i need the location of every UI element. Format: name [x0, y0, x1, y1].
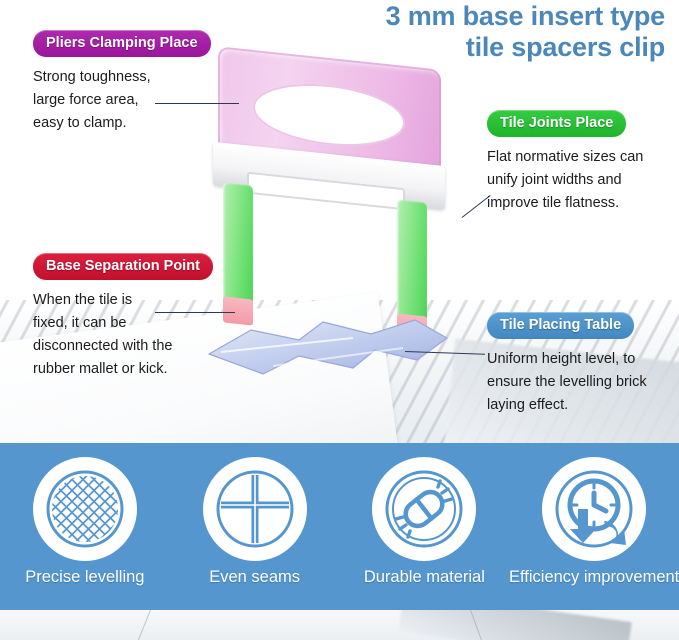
callout-badge-base: Base Separation Point [33, 253, 213, 280]
floor-grey-tile [398, 610, 632, 640]
callout-pliers-clamping-place: Pliers Clamping Place Strong toughness, … [33, 30, 233, 135]
callout-badge-joints: Tile Joints Place [487, 110, 626, 137]
cross-seam-icon [203, 457, 307, 561]
floor-strip [0, 610, 679, 640]
callout-tile-joints-place: Tile Joints Place Flat normative sizes c… [487, 110, 672, 215]
clock-arrows-icon [542, 457, 646, 561]
callout-badge-pliers: Pliers Clamping Place [33, 30, 211, 57]
feature-label-efficiency-improvement: Efficiency improvement [509, 568, 679, 587]
unbreakable-capsule-icon [372, 457, 476, 561]
feature-precise-levelling: Precise levelling [1, 457, 169, 587]
lattice-circle-icon [33, 457, 137, 561]
infographic-page: 3 mm base insert type tile spacers clip [0, 0, 679, 640]
feature-label-durable-material: Durable material [364, 568, 485, 587]
callout-body-base: When the tile is fixed, it can be discon… [33, 289, 243, 381]
page-title: 3 mm base insert type tile spacers clip [335, 1, 665, 63]
callout-body-placing: Uniform height level, to ensure the leve… [487, 348, 677, 417]
product-illustration [205, 58, 485, 378]
callout-body-pliers: Strong toughness, large force area, easy… [33, 66, 233, 135]
feature-label-even-seams: Even seams [209, 568, 300, 587]
callout-badge-placing: Tile Placing Table [487, 312, 634, 339]
callout-base-separation-point: Base Separation Point When the tile is f… [33, 253, 243, 381]
page-title-line-1: 3 mm base insert type [335, 1, 665, 32]
feature-label-precise-levelling: Precise levelling [25, 568, 144, 587]
callout-body-joints: Flat normative sizes can unify joint wid… [487, 146, 672, 215]
floor-seam-left [128, 610, 151, 640]
callout-tile-placing-table: Tile Placing Table Uniform height level,… [487, 312, 677, 417]
feature-bar: Precise levelling Even seams [0, 443, 679, 610]
feature-durable-material: Durable material [340, 457, 508, 587]
feature-even-seams: Even seams [171, 457, 339, 587]
feature-efficiency-improvement: Efficiency improvement [510, 457, 678, 587]
